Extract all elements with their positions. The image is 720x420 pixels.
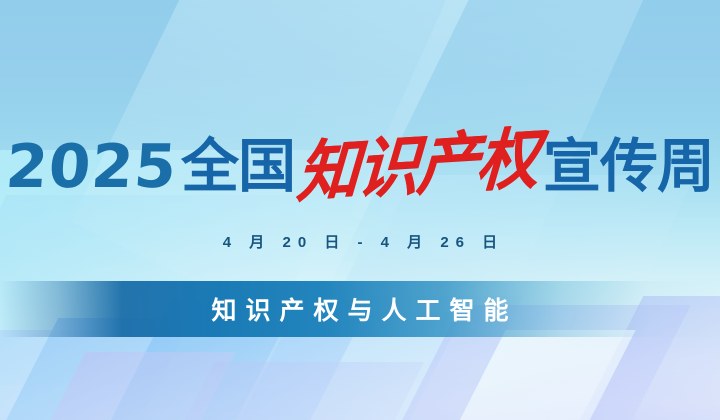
background-plate — [156, 362, 425, 420]
ip-week-poster: 2025 全国 知识产权 宣传周 4 月 20 日 - 4 月 26 日 知识产… — [0, 0, 720, 420]
subtitle-text: 知识产权与人工智能 — [202, 291, 517, 327]
background-decoration — [0, 0, 720, 420]
subtitle-bar: 知识产权与人工智能 — [0, 281, 720, 337]
poster-title: 2025 全国 知识产权 宣传周 — [0, 124, 720, 210]
background-plate — [0, 330, 186, 420]
title-scope: 全国 — [181, 138, 295, 196]
title-suffix: 宣传周 — [543, 138, 714, 196]
event-date-range: 4 月 20 日 - 4 月 26 日 — [0, 231, 720, 252]
background-plate — [434, 330, 635, 420]
title-highlight: 知识产权 — [295, 127, 539, 208]
title-year: 2025 — [4, 137, 179, 197]
background-plate — [24, 352, 235, 420]
